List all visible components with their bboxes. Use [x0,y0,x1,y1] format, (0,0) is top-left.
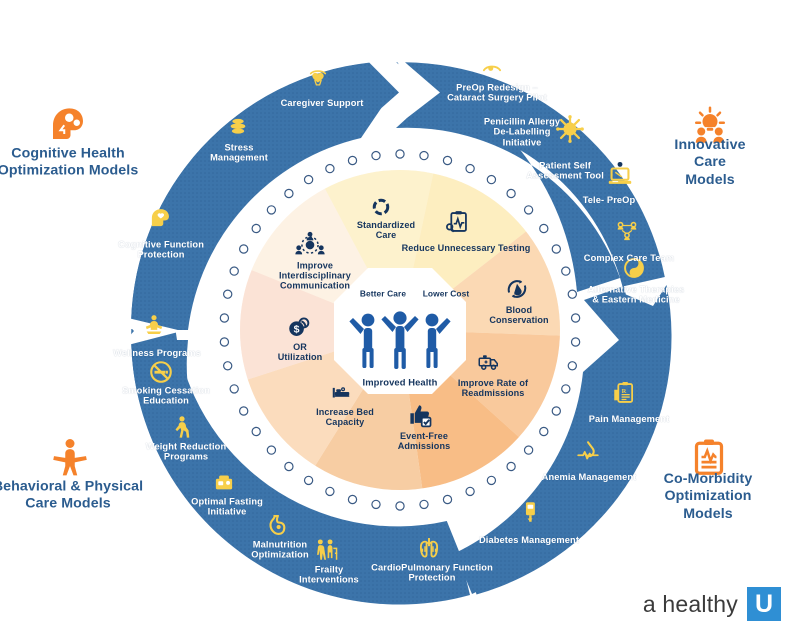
ring-dot [220,314,228,322]
care-model-title: Innovative Care Models [666,137,755,189]
ring-dot [420,152,428,160]
ring-dot [466,165,474,173]
lungs-icon [416,534,442,560]
team-meeting-icon [295,230,325,260]
ring-dot [552,407,560,415]
blood-pulse-icon [575,439,601,465]
ring-dot [396,150,404,158]
care-team-network-icon [614,219,640,245]
ring-dot [240,245,248,253]
ring-dot [348,495,356,503]
person-arms-out-icon [50,436,90,476]
ring-dot [230,385,238,393]
ring-item-label: Frailty Interventions [299,565,359,586]
ring-item-label: Tele- PreOp [583,195,636,205]
wheel-segment-label: Improve Rate of Readmissions [458,378,528,398]
ring-item-label: Weight Reduction Programs [146,442,226,463]
ring-dot [562,267,570,275]
laptop-webcam-icon [605,161,635,191]
ring-item-label: Stress Management [210,143,268,164]
wheel-segment-label: Event-Free Admissions [398,431,451,451]
ring-dot [224,290,232,298]
ring-item-label: Malnutrition Optimization [251,540,309,561]
eye-icon [478,59,506,79]
ring-dot [568,362,576,370]
lunchbox-icon [211,469,237,495]
ring-dot [267,206,275,214]
wheel-segment-label: Blood Conservation [489,305,548,325]
logo-u-mark: U [747,587,781,621]
brand-logo[interactable]: a healthy U [643,587,781,621]
ring-item-label: Alternative Therapies & Eastern Medicine [588,285,685,306]
ring-dot [540,427,548,435]
wheel-segment-label: Reduce Unnecessary Testing [402,243,531,253]
ring-dot [572,314,580,322]
ring-dot [525,206,533,214]
ring-item-label: Optimal Fasting Initiative [191,497,263,518]
glucose-meter-icon [517,499,543,525]
ring-item-label: CardioPulmonary Function Protection [371,563,493,584]
wheel-segment-label: Standardized Care [357,220,415,240]
infographic-graphics [0,0,799,635]
ring-dot [443,156,451,164]
ring-dot [466,487,474,495]
care-model-title: Cognitive Health Optimization Models [0,146,138,181]
ring-dot [267,446,275,454]
head-heart-icon [147,205,173,231]
wheel-segment-label: Increase Bed Capacity [316,407,374,427]
ring-dot [443,495,451,503]
infographic-canvas: R$ Caregiver SupportStress ManagementCog… [0,0,799,635]
ring-dot [285,462,293,470]
care-model-title: Co-Morbidity Optimization Models [663,471,754,523]
prescription-pad-icon: R [611,380,637,406]
ring-dot [552,245,560,253]
ring-item-label: PreOp Redesign – Cataract Surgery Pilot [447,83,547,104]
ring-dot [305,176,313,184]
hub-lower-cost-label: Lower Cost [423,289,470,298]
ring-item-label: Anemia Management [542,472,637,482]
stacked-stones-icon [225,114,251,140]
ring-item-label: Wellness Programs [113,348,201,358]
ring-dot [230,267,238,275]
logo-wordmark: a healthy [643,591,738,618]
ring-item-label: Pain Management [589,414,670,424]
dollar-coins-icon: $ [286,314,312,340]
ring-dot [562,385,570,393]
ring-item-label: Caregiver Support [281,98,364,108]
ring-dot [507,462,515,470]
hub-better-care-label: Better Care [360,289,406,298]
ring-dot [252,427,260,435]
ring-dot [305,476,313,484]
elderly-walker-icon [313,537,339,563]
blood-drop-cycle-icon [503,275,531,303]
ring-item-label: Complex Care Team [584,253,674,263]
ring-dot [285,189,293,197]
ring-dot [372,152,380,160]
hospital-bed-icon [326,381,356,403]
yoga-pose-icon [141,312,167,338]
ring-dot [507,189,515,197]
person-running-icon [169,414,195,440]
ring-dot [224,362,232,370]
head-gears-icon [48,104,88,144]
ring-dot [525,446,533,454]
ring-dot [540,224,548,232]
care-model-title: Behavioral & Physical Care Models [0,479,143,514]
ring-item-label: Diabetes Management [479,535,579,545]
thumbs-up-check-icon [406,401,434,429]
ring-item-label: Cognitive Function Protection [118,240,204,261]
wheel-segment-label: Improve Interdisciplinary Communication [279,261,351,292]
heart-hands-icon [305,67,331,93]
ring-dot [568,290,576,298]
svg-text:$: $ [294,324,300,336]
stomach-icon [264,512,290,538]
ring-dot [420,500,428,508]
ring-dot [326,165,334,173]
circular-arrows-icon [369,195,393,219]
ring-dot [348,156,356,164]
clipboard-ecg-icon [444,209,470,235]
ring-dot [572,338,580,346]
ring-dot [372,500,380,508]
ring-item-label: Smoking Cessation Education [122,386,210,407]
wheel-segment-label: OR Utilization [278,342,323,362]
ring-dot [396,502,404,510]
ring-item-label: Penicillin Allergy De-Labelling Initiati… [484,116,560,147]
ring-item-label: Patient Self Assessment Tool [526,161,604,182]
hub-improved-health-label: Improved Health [363,378,438,389]
ring-dot [487,176,495,184]
ring-dot [326,487,334,495]
svg-text:R: R [622,388,627,395]
ring-dot [252,224,260,232]
no-smoking-icon [148,359,174,385]
ambulance-icon [475,350,503,374]
ring-dot [220,338,228,346]
ring-dot [487,476,495,484]
ring-dot [240,407,248,415]
